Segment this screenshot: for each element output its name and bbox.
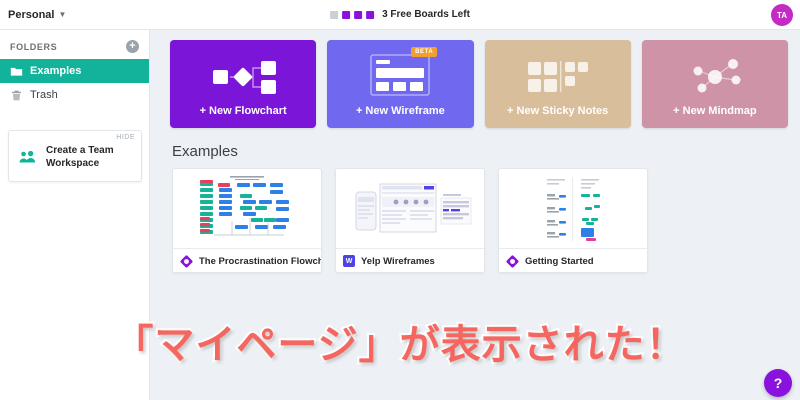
new-wireframe-label: + New Wireframe: [356, 105, 445, 117]
free-boards-indicator: 3 Free Boards Left: [330, 9, 470, 20]
workspace-selector[interactable]: Personal ▼: [8, 9, 66, 21]
chevron-down-icon: ▼: [58, 11, 66, 19]
example-card-name: Yelp Wireframes: [361, 256, 435, 267]
board-dot-used: [330, 11, 338, 19]
examples-list: The Procrastination Flowch...: [151, 168, 800, 273]
folders-heading: FOLDERS: [10, 42, 57, 52]
free-boards-text: 3 Free Boards Left: [382, 9, 470, 20]
board-dots: [330, 11, 374, 19]
board-dot-available: [342, 11, 350, 19]
sidebar-item-label: Trash: [30, 89, 58, 101]
new-flowchart-card[interactable]: + New Flowchart: [170, 40, 316, 128]
beta-badge: BETA: [411, 47, 437, 57]
flowchart-art: [170, 54, 316, 100]
new-mindmap-label: + New Mindmap: [673, 105, 756, 117]
new-wireframe-card[interactable]: BETA + New Wireframe: [327, 40, 473, 128]
wireframe-square-icon: W: [343, 255, 355, 267]
folder-icon: [10, 65, 23, 78]
sidebar-item-trash[interactable]: Trash: [0, 83, 149, 107]
workspace-label: Personal: [8, 9, 54, 21]
example-card-procrastination-flowchart[interactable]: The Procrastination Flowch...: [172, 168, 322, 273]
example-card-name: The Procrastination Flowch...: [199, 256, 321, 267]
new-flowchart-label: + New Flowchart: [200, 105, 287, 117]
sidebar-item-examples[interactable]: Examples: [0, 59, 149, 83]
sticky-art: [485, 54, 631, 100]
example-card-getting-started[interactable]: Getting Started: [498, 168, 648, 273]
team-card-title-line1: Create a Team: [46, 145, 114, 158]
folders-header: FOLDERS +: [0, 30, 149, 59]
new-mindmap-card[interactable]: + New Mindmap: [642, 40, 788, 128]
example-card-yelp-wireframes[interactable]: W Yelp Wireframes: [335, 168, 485, 273]
top-bar: Personal ▼ 3 Free Boards Left TA: [0, 0, 800, 30]
plus-icon[interactable]: +: [126, 40, 139, 53]
mindmap-art: [642, 54, 788, 100]
hide-button[interactable]: HIDE: [116, 134, 135, 141]
create-team-workspace-card[interactable]: HIDE Create a Team Workspace: [8, 130, 142, 182]
wireframe-art: BETA: [327, 54, 473, 100]
people-icon: [18, 150, 38, 166]
new-board-cards: + New Flowchart BETA + New Wireframe: [151, 30, 800, 128]
example-card-name: Getting Started: [525, 256, 594, 267]
help-button[interactable]: ?: [764, 369, 792, 397]
board-dot-available: [354, 11, 362, 19]
flowchart-diamond-icon: [180, 255, 193, 268]
trash-icon: [10, 89, 23, 102]
team-card-title-line2: Workspace: [46, 158, 114, 171]
new-sticky-notes-card[interactable]: + New Sticky Notes: [485, 40, 631, 128]
board-dot-available: [366, 11, 374, 19]
sidebar-item-label: Examples: [30, 65, 81, 77]
examples-heading: Examples: [151, 128, 800, 168]
team-card-title: Create a Team Workspace: [46, 145, 114, 170]
wireframe-thumb: [336, 169, 484, 249]
flowchart-diamond-icon: [506, 255, 519, 268]
flowchart-thumb: [173, 169, 321, 249]
avatar[interactable]: TA: [771, 4, 793, 26]
new-sticky-notes-label: + New Sticky Notes: [507, 105, 608, 117]
getting-started-thumb: [499, 169, 647, 249]
annotation-caption: 「マイページ」が表示された！: [0, 312, 800, 370]
